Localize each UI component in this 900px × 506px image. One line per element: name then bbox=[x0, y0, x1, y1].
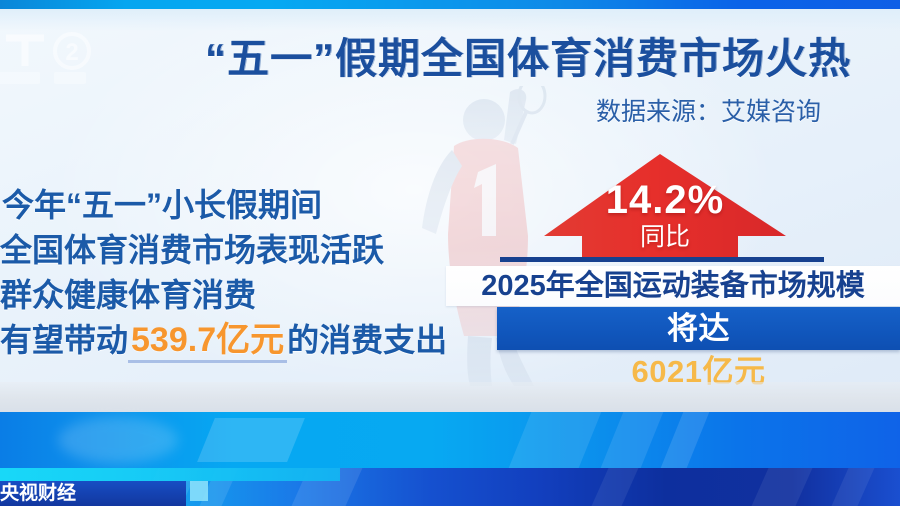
body-copy-block: 今年“五一”小长假期间 全国体育消费市场表现活跃 群众健康体育消费 有望带动53… bbox=[0, 183, 470, 363]
broadcast-screen: 2 “五一”假期全国体育消费市场火热 数据来源：艾媒咨询 今年“五一”小长假期间… bbox=[0, 0, 900, 506]
svg-text:2: 2 bbox=[65, 39, 78, 66]
callout-divider-rule bbox=[500, 257, 824, 262]
data-source-label: 数据来源：艾媒咨询 bbox=[596, 96, 896, 128]
yoy-percent-value: 14.2% bbox=[542, 178, 788, 222]
spending-amount-highlight: 539.7亿元 bbox=[128, 321, 287, 363]
lower-blue-band bbox=[0, 412, 900, 468]
yoy-label: 同比 bbox=[542, 222, 788, 252]
callout-value: 将达6021亿元 bbox=[497, 307, 900, 393]
top-accent-bar bbox=[0, 0, 900, 9]
channel-tag-square bbox=[190, 481, 208, 501]
top-sheen bbox=[0, 9, 900, 31]
callout-caption-box: 2025年全国运动装备市场规模 bbox=[446, 266, 900, 306]
bottom-cyan-strip bbox=[0, 468, 340, 481]
channel-tag: 央视财经 bbox=[0, 481, 186, 506]
callout-caption: 2025年全国运动装备市场规模 bbox=[446, 266, 900, 306]
channel-tag-label: 央视财经 bbox=[0, 481, 186, 506]
page-title: “五一”假期全国体育消费市场火热 bbox=[205, 30, 895, 88]
callout-value-prefix: 将达 bbox=[497, 307, 900, 350]
copy-line-3: 群众健康体育消费 bbox=[0, 273, 470, 318]
copy-line-1: 今年“五一”小长假期间 bbox=[0, 183, 470, 228]
lower-grey-strip bbox=[0, 382, 900, 412]
copy-line-4-prefix: 有望带动 bbox=[0, 322, 128, 358]
copy-line-4: 有望带动539.7亿元的消费支出 bbox=[0, 318, 470, 363]
callout-value-box: 将达6021亿元 bbox=[497, 307, 900, 350]
copy-line-2: 全国体育消费市场表现活跃 bbox=[0, 228, 470, 273]
copy-line-4-suffix: 的消费支出 bbox=[287, 322, 447, 358]
cctv-2-logo: 2 bbox=[0, 24, 104, 90]
